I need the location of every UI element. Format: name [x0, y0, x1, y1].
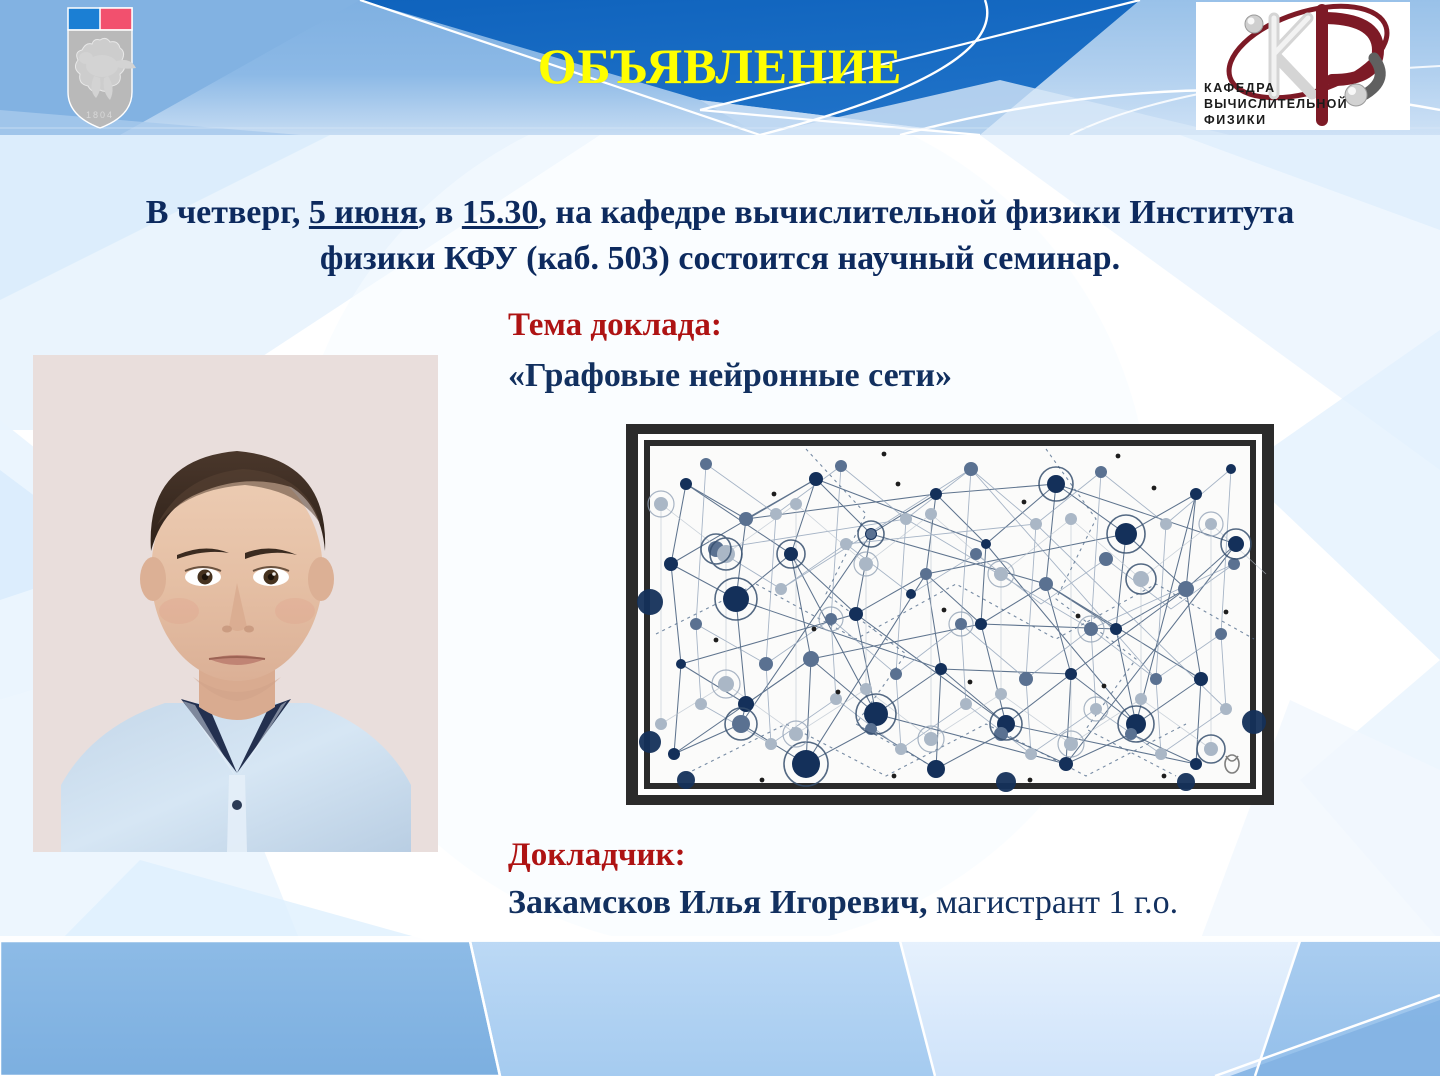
crest-year: 1804 — [86, 110, 114, 120]
seminar-date: 5 июня — [309, 194, 418, 231]
graph-illustration-graphic — [626, 424, 1274, 805]
lead-mid: , в — [418, 194, 462, 231]
speaker-degree: магистрант 1 г.о. — [928, 884, 1179, 921]
speaker-photo — [33, 355, 438, 852]
kfu-crest-icon: 1804 — [46, 4, 154, 132]
dept-logo-line2: ВЫЧИСЛИТЕЛЬНОЙ — [1204, 96, 1348, 111]
dept-logo-line3: ФИЗИКИ — [1204, 113, 1267, 127]
announcement-text: В четверг, 5 июня, в 15.30, на кафедре в… — [120, 190, 1320, 282]
speaker-label: Докладчик: — [508, 835, 686, 875]
graph-neural-network-illustration — [626, 424, 1274, 805]
topic-label: Тема доклада: — [508, 305, 722, 345]
speaker-photo-graphic — [33, 355, 438, 852]
header-band: 1804 КАФЕДРА ВЫЧИСЛИТЕЛЬНОЙ ФИЗИКИ ОБ — [0, 0, 1440, 135]
department-logo: КАФЕДРА ВЫЧИСЛИТЕЛЬНОЙ ФИЗИКИ — [1196, 2, 1410, 130]
topic-value: «Графовые нейронные сети» — [508, 355, 952, 397]
seminar-time: 15.30 — [462, 194, 539, 231]
lead-pre: В четверг, — [146, 194, 309, 231]
footer-band — [0, 936, 1440, 1076]
lead-post: , на кафедре вычислительной физики — [538, 194, 1121, 231]
speaker-value: Закамсков Илья Игоревич, магистрант 1 г.… — [508, 882, 1178, 924]
dept-logo-line1: КАФЕДРА — [1204, 81, 1276, 95]
speaker-name: Закамсков Илья Игоревич, — [508, 884, 928, 921]
announcement-slide: 1804 КАФЕДРА ВЫЧИСЛИТЕЛЬНОЙ ФИЗИКИ ОБ — [0, 0, 1440, 1076]
